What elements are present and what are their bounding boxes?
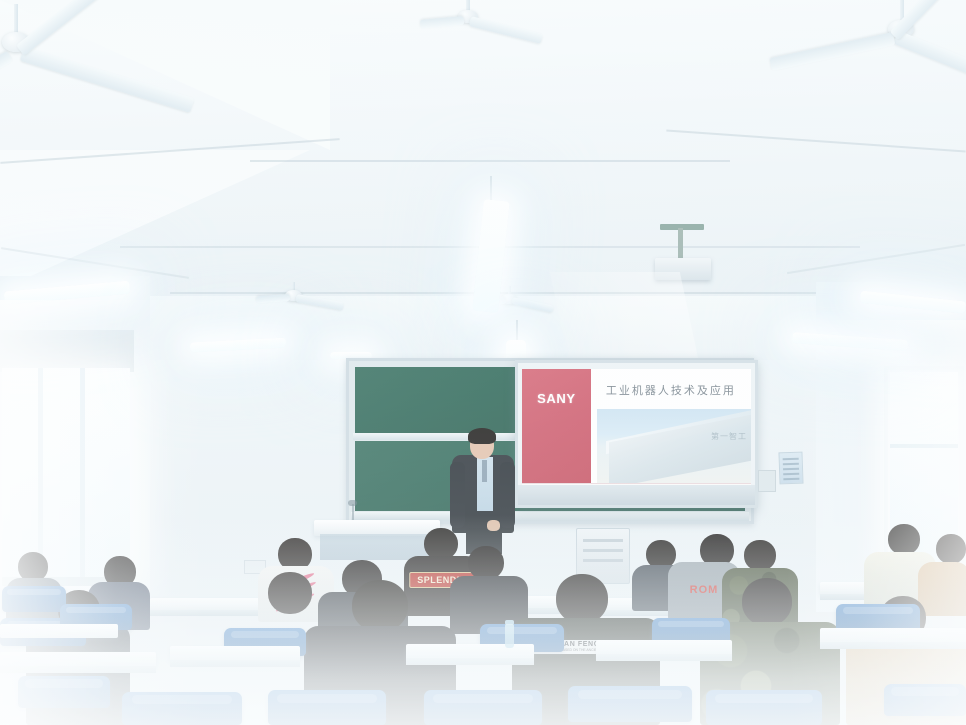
screen-bottom-bar (518, 485, 755, 505)
presenter-tie (482, 460, 487, 482)
ceiling-edge-2 (250, 160, 730, 162)
projector-mount-arm (678, 228, 683, 260)
ceiling-fan (790, 0, 966, 110)
presentation-slide: SANY 工业机器人技术及应用 第一智工 (522, 369, 751, 483)
window-mullion (38, 368, 43, 580)
chair (706, 690, 822, 725)
fan-blade (469, 16, 543, 44)
slide-brand-panel: SANY (522, 369, 591, 483)
ceiling-fan (430, 0, 550, 58)
ceiling-projector (655, 258, 711, 280)
presenter-hand (487, 520, 500, 531)
chair-highlight (487, 627, 558, 634)
student-head (744, 540, 776, 571)
student-head (742, 578, 792, 626)
chair-highlight (25, 679, 102, 687)
fan-blade (0, 51, 13, 92)
chair (122, 692, 242, 725)
lamp-suspension-rod (490, 176, 492, 202)
desk-edge (406, 658, 534, 665)
chair-highlight (715, 694, 812, 703)
desk (0, 624, 118, 638)
window-left (2, 368, 130, 580)
window-mullion (80, 368, 85, 580)
chair-highlight (578, 690, 682, 699)
ceiling-beam-right (0, 150, 310, 290)
chair-highlight (843, 607, 914, 614)
ceiling-edge-3 (666, 130, 965, 153)
student-head (936, 534, 966, 564)
console-slot (583, 549, 623, 552)
window-mullion (890, 444, 958, 448)
chair-highlight (277, 694, 376, 703)
projection-screen: SANY 工业机器人技术及应用 第一智工 广东工贸职业技术学院机电工程系 刘祥亭… (515, 360, 758, 508)
fan-blade (295, 294, 344, 310)
wall-speaker-box (758, 470, 776, 492)
slide-title: 工业机器人技术及应用 (591, 369, 751, 398)
water-bottle (505, 624, 514, 648)
slide-content-panel: 工业机器人技术及应用 第一智工 (591, 369, 751, 483)
notice-line (783, 458, 799, 460)
notice-line (783, 463, 799, 465)
student-head (352, 580, 408, 632)
fan-blade (511, 297, 554, 313)
notice-line (783, 468, 799, 470)
ceiling-edge-6 (787, 244, 965, 274)
wall-notice (778, 452, 803, 485)
ceiling-fan (0, 4, 210, 124)
notice-line (783, 473, 799, 475)
chair-highlight (132, 695, 233, 704)
rom-shirt-text: ROM (690, 584, 719, 596)
slide-photo: 第一智工 (597, 409, 751, 483)
chair (568, 686, 692, 722)
chair-highlight (66, 607, 126, 614)
chair-highlight (433, 694, 532, 703)
chair (2, 586, 66, 612)
slide-watermark: 第一智工 (711, 431, 747, 442)
desk-edge (0, 666, 156, 673)
chair-highlight (658, 621, 724, 628)
fan-blade (256, 294, 290, 303)
chair (884, 684, 966, 716)
chair (424, 690, 542, 725)
window-blind-left (0, 330, 134, 372)
chair-highlight (7, 589, 61, 596)
presenter-left-arm (450, 462, 465, 528)
sany-logo: SANY (537, 391, 576, 406)
student-head (888, 524, 920, 555)
fan-blade (20, 46, 195, 112)
classroom-photo: SANY 工业机器人技术及应用 第一智工 广东工贸职业技术学院机电工程系 刘祥亭… (0, 0, 966, 725)
console-slot (583, 559, 623, 562)
student-head (468, 546, 504, 580)
console-slot (583, 539, 623, 542)
fan-blade (16, 0, 100, 56)
lamp-suspension-rod (516, 320, 518, 342)
fan-downrod (14, 4, 18, 34)
chair (268, 690, 386, 725)
notice-line (783, 478, 799, 480)
desk-edge (820, 642, 966, 649)
desk-edge (170, 660, 300, 667)
student-body (918, 562, 966, 616)
presenter-hair (468, 428, 496, 444)
fan-blade (893, 31, 966, 86)
student-head (268, 572, 312, 614)
ceiling-fan (258, 282, 346, 322)
chair-highlight (231, 631, 300, 638)
desk-edge (596, 654, 732, 661)
chair (18, 676, 110, 708)
chair-highlight (891, 687, 960, 695)
student-head (556, 574, 608, 624)
presenter-right-arm (500, 462, 515, 528)
